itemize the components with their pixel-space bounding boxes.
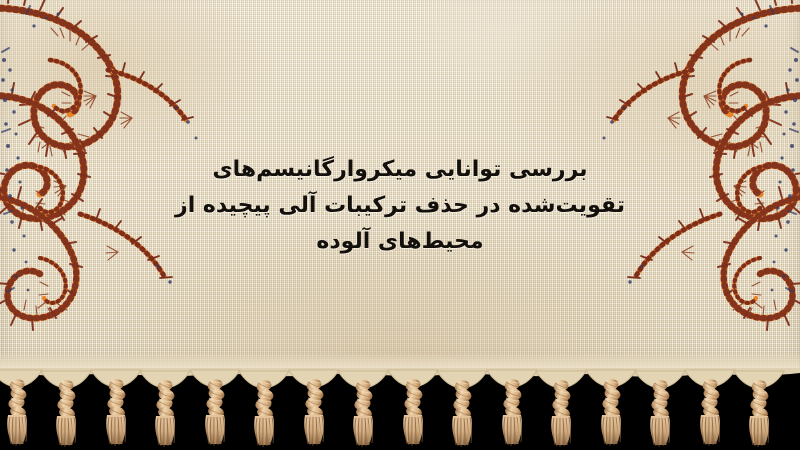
title-line-3: محیط‌های آلوده	[0, 224, 800, 260]
title-line-1: بررسی توانایی میکروارگانیسم‌های	[0, 152, 800, 188]
slide-title: بررسی توانایی میکروارگانیسم‌های تقویت‌شد…	[0, 152, 800, 260]
title-slide: بررسی توانایی میکروارگانیسم‌های تقویت‌شد…	[0, 0, 800, 450]
title-line-2: تقویت‌شده در حذف ترکیبات آلی پیچیده از	[0, 188, 800, 224]
tassel-fringe	[0, 368, 800, 450]
